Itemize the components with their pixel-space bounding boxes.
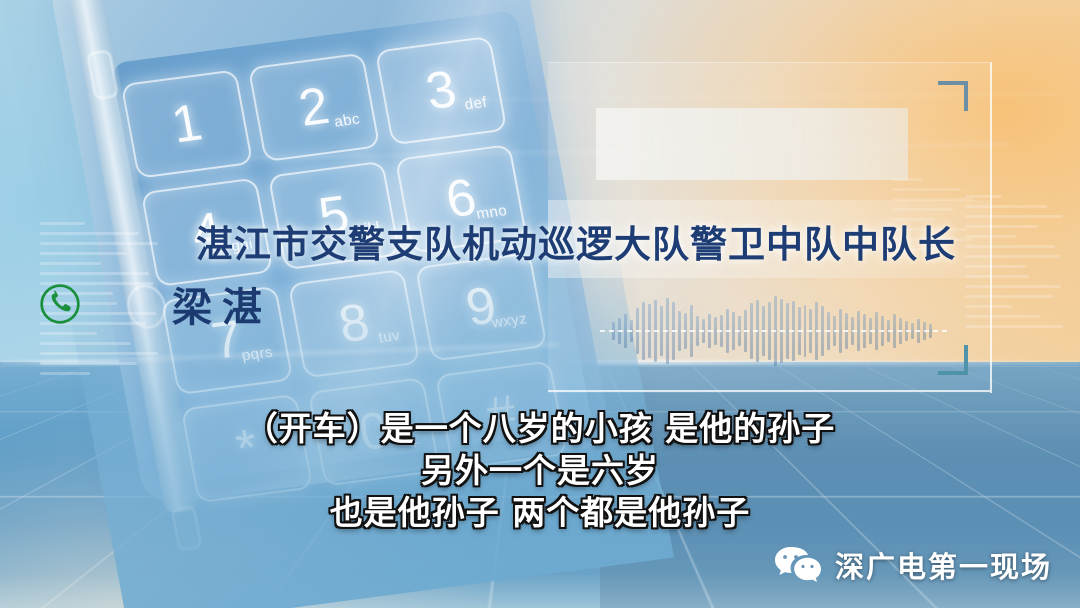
wechat-icon: [773, 545, 823, 585]
keypad-letters: abc: [333, 111, 362, 131]
subtitle-line: 也是他孙子 两个都是他孙子: [0, 492, 1080, 534]
keypad-letters: def: [463, 94, 488, 114]
channel-name: 深广电第一现场: [835, 544, 1052, 586]
keypad-letters: wxyz: [490, 310, 528, 331]
caller-name-bar: [596, 108, 908, 180]
keypad-digit: 6: [442, 171, 480, 226]
subtitle-line: 另外一个是六岁: [0, 450, 1080, 492]
channel-watermark: 深广电第一现场: [773, 544, 1052, 586]
keypad-digit: 1: [168, 97, 206, 152]
broadcast-frame: 12abc3def4ghi5jkl6mno7pqrs8tuv9wxyz*0+# …: [0, 0, 1080, 608]
keypad-key-8: 8tuv: [288, 269, 421, 379]
subtitle-line: （开车）是一个八岁的小孩 是他的孙子: [0, 408, 1080, 450]
subtitle-block: （开车）是一个八岁的小孩 是他的孙子另外一个是六岁也是他孙子 两个都是他孙子: [0, 408, 1080, 534]
keypad-letters: mno: [475, 202, 509, 223]
keypad-letters: tuv: [377, 327, 401, 347]
corner-bracket-top-right-icon: [938, 81, 968, 111]
keypad-key-3: 3def: [375, 36, 508, 146]
caller-panel-bottom-edge: [548, 390, 990, 392]
caller-title: 湛江市交警支队机动巡逻大队警卫中队中队长: [196, 225, 916, 266]
keypad-key-1: 1: [121, 69, 254, 179]
keypad-digit: 3: [422, 63, 460, 118]
keypad-key-2: 2abc: [248, 53, 381, 163]
keypad-digit: 2: [295, 80, 333, 135]
phone-side-button-top: [86, 50, 119, 100]
keypad-digit: 8: [335, 296, 373, 351]
telephone-icon: [38, 282, 82, 326]
corner-bracket-bottom-right-icon: [938, 345, 968, 375]
caller-name: 梁湛: [172, 275, 272, 333]
audio-waveform-centerline: [600, 330, 950, 332]
